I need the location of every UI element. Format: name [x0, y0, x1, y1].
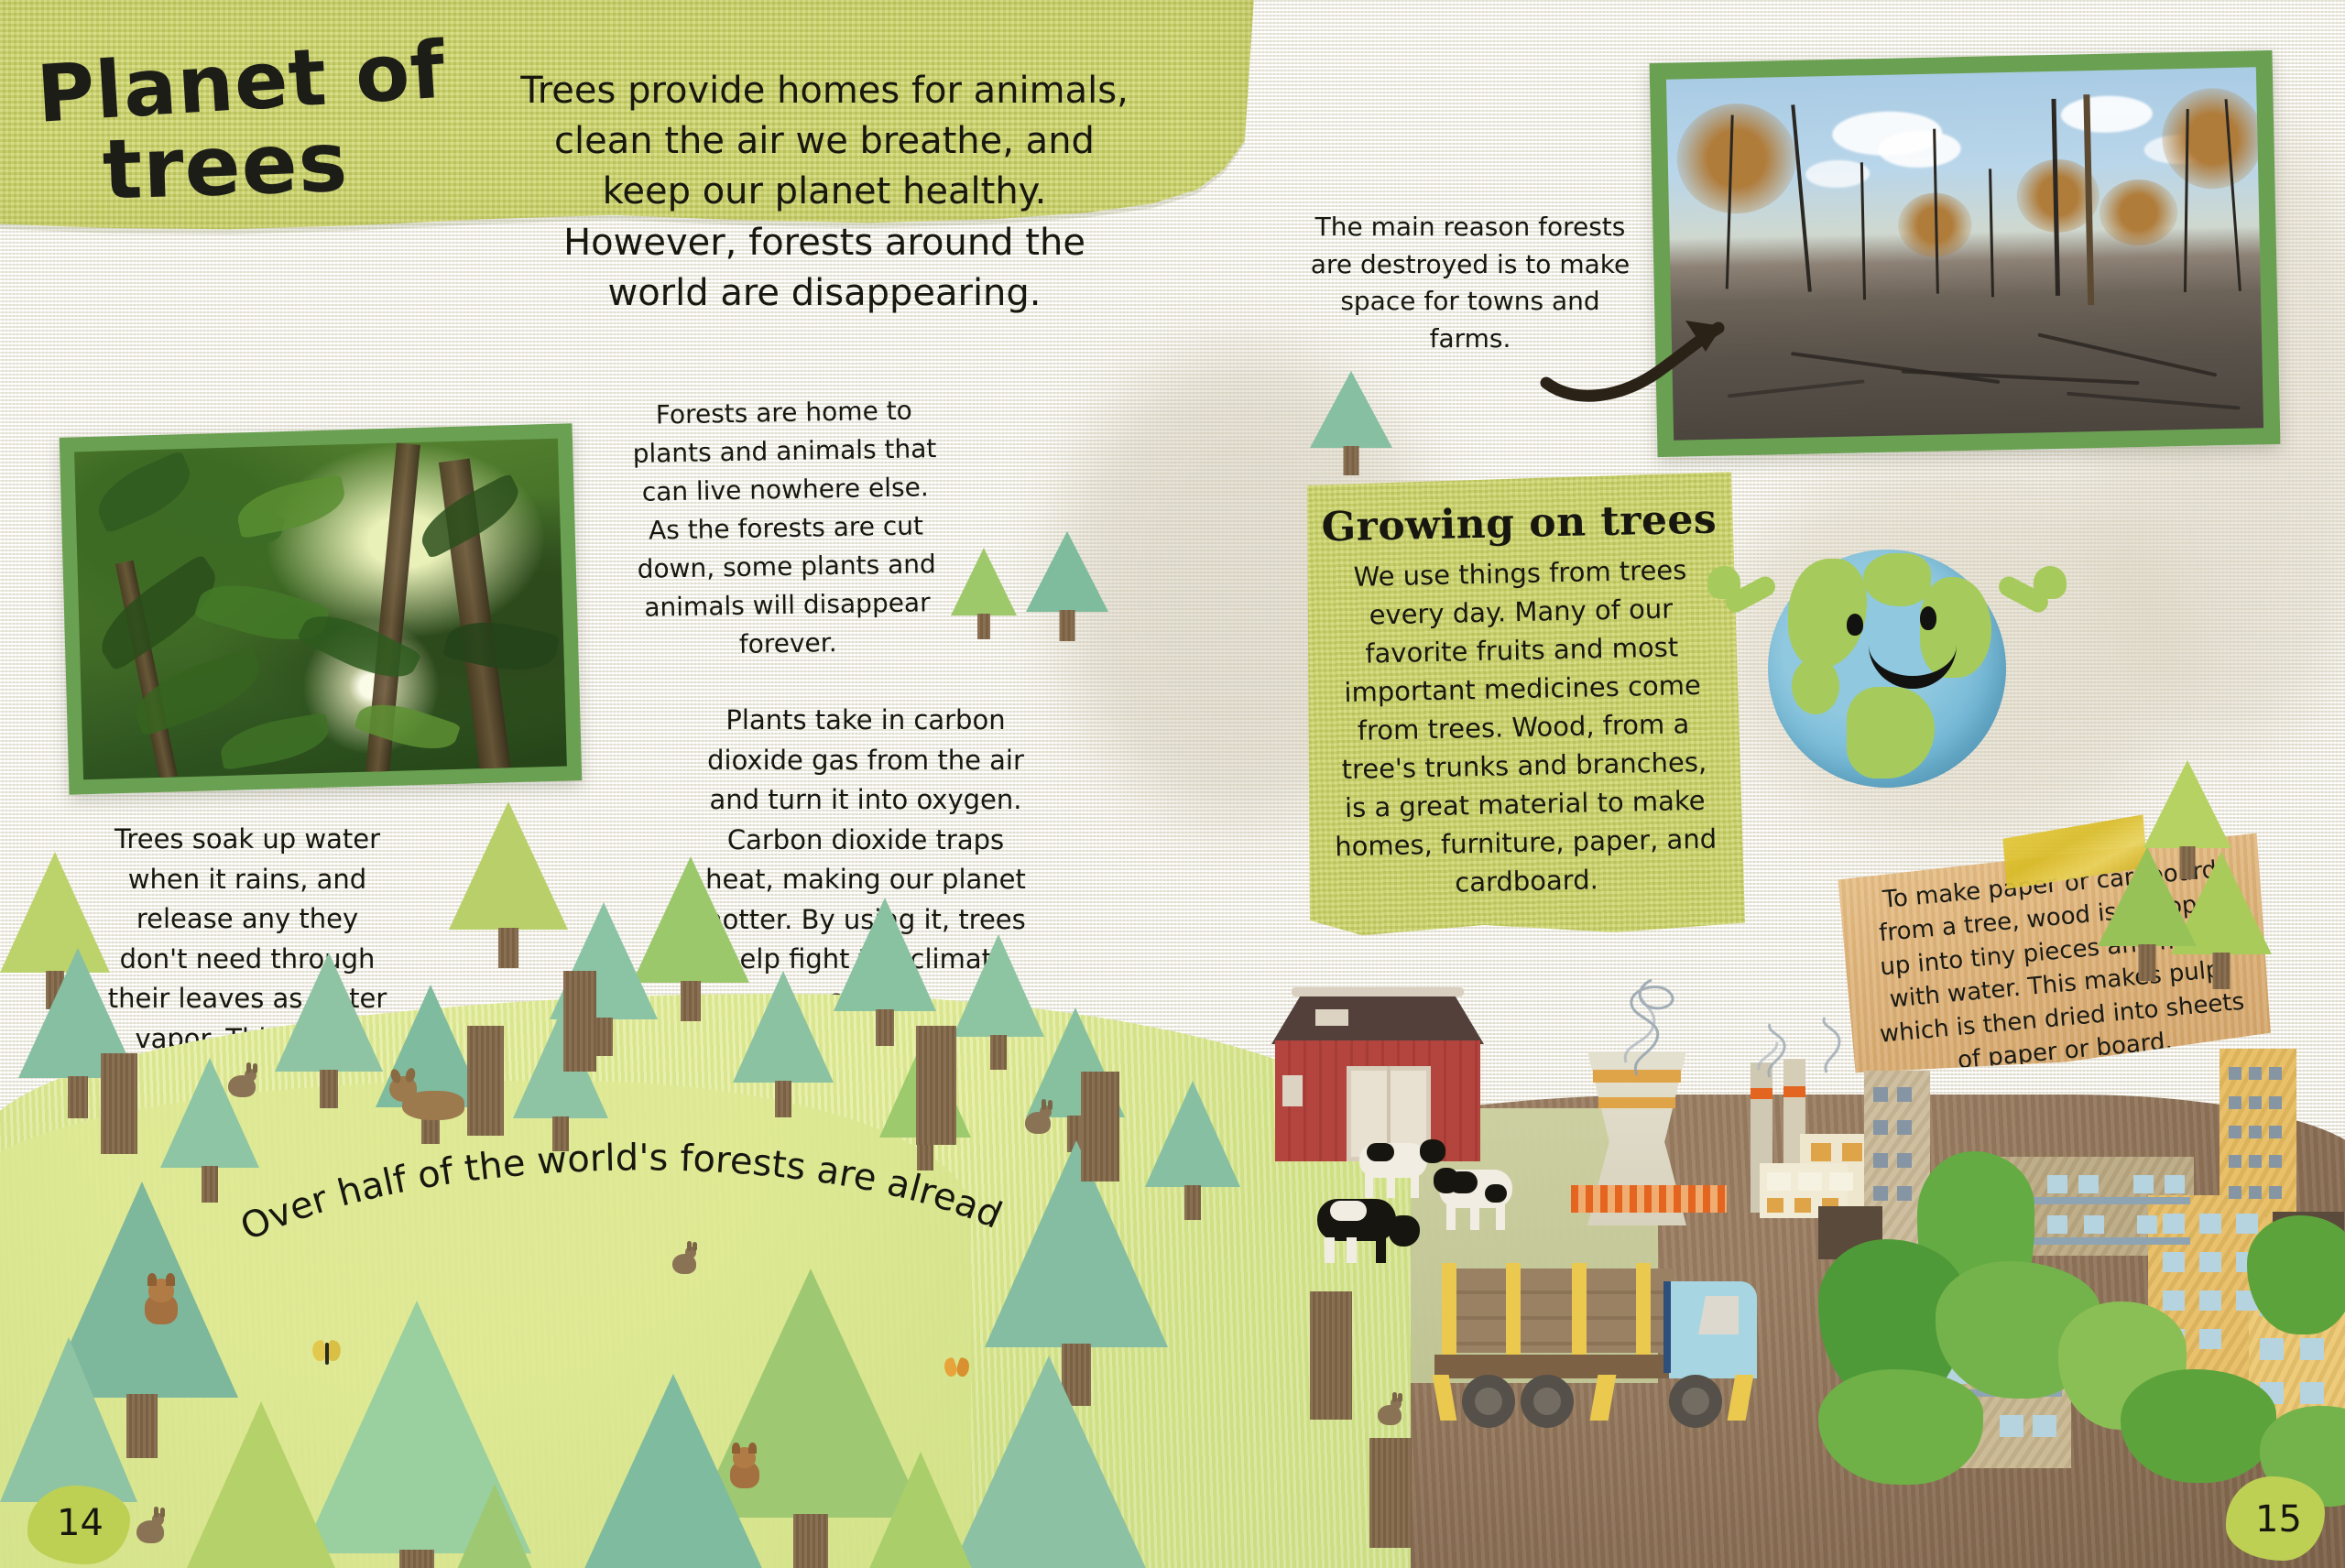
fox-cub: [137, 1273, 185, 1326]
city-window: [2300, 1382, 2324, 1404]
city-window: [1897, 1153, 1912, 1168]
smokestack-band: [1751, 1088, 1772, 1099]
city-window: [2269, 1186, 2282, 1199]
cow: [1434, 1159, 1534, 1234]
city-window: [2260, 1338, 2284, 1360]
city-window: [1873, 1087, 1888, 1102]
city-window: [2084, 1215, 2104, 1234]
barn-roof-ridge: [1292, 987, 1464, 996]
truck-stake: [1636, 1263, 1651, 1364]
smokestack-band: [1783, 1086, 1805, 1097]
city-window: [2229, 1067, 2241, 1080]
city-window-band: [2029, 1197, 2190, 1204]
truck-stake: [1442, 1263, 1456, 1364]
city-bush: [2121, 1369, 2276, 1483]
earth-right-palm: [2034, 566, 2067, 599]
factory-window: [1767, 1198, 1783, 1213]
tree-stump-post: [563, 971, 596, 1072]
city-window: [2236, 1214, 2258, 1234]
book-spread: Planet of trees Trees provide homes for …: [0, 0, 2345, 1568]
city-window: [2137, 1215, 2157, 1234]
city-window: [2269, 1067, 2282, 1080]
curved-headline: Over half of the world's forests are alr…: [229, 1140, 998, 1269]
barn-window: [1315, 1009, 1348, 1026]
city-window: [2199, 1214, 2221, 1234]
city-window: [2047, 1215, 2067, 1234]
earth-eye-left: [1847, 614, 1863, 636]
rabbit: [224, 1062, 261, 1103]
tree: [2098, 847, 2197, 981]
truck-wheel-hub: [1533, 1388, 1561, 1415]
rainforest-image: [74, 439, 567, 780]
tree: [1310, 371, 1392, 472]
globe-icon: [1768, 550, 2006, 788]
city-window: [2133, 1175, 2154, 1193]
city-window: [2229, 1126, 2241, 1138]
barn-side-window: [1282, 1075, 1303, 1106]
butterfly: [311, 1337, 343, 1370]
growing-on-trees-heading: Growing on trees: [1301, 495, 1737, 551]
city-window: [2000, 1415, 2023, 1437]
city-window: [2249, 1155, 2262, 1168]
city-window: [2199, 1290, 2221, 1311]
city-window: [1897, 1186, 1912, 1201]
truck-stake: [1506, 1263, 1521, 1364]
truck-fender: [1590, 1375, 1617, 1421]
factory-window: [1767, 1172, 1791, 1191]
truck-wheel-hub: [1475, 1388, 1502, 1415]
city-window: [1897, 1120, 1912, 1135]
tree: [829, 1452, 1012, 1568]
city-window-band: [2029, 1237, 2190, 1245]
growing-on-trees-body: We use things from trees every day. Many…: [1328, 550, 1719, 905]
city-skyline: [1818, 1049, 2345, 1479]
city-window: [1873, 1186, 1888, 1201]
tree-stump-post: [101, 1053, 137, 1154]
curved-arrow-icon: [1539, 295, 1768, 414]
rabbit: [1374, 1392, 1407, 1431]
tree-stump-post: [1369, 1438, 1412, 1548]
city-window: [2199, 1329, 2221, 1349]
city-window: [1873, 1153, 1888, 1168]
tree-stump-post: [467, 1026, 504, 1136]
city-window: [2229, 1186, 2241, 1199]
tree-stump-post: [916, 1026, 956, 1145]
tree-stump-post: [1081, 1072, 1119, 1181]
city-window: [2249, 1186, 2262, 1199]
city-window: [2269, 1155, 2282, 1168]
rabbit: [133, 1507, 169, 1549]
city-window: [2249, 1126, 2262, 1138]
city-window: [2165, 1175, 2185, 1193]
truck-wheel-hub: [1682, 1388, 1709, 1415]
city-bush: [1818, 1369, 1983, 1485]
truck-cab-post: [1663, 1281, 1671, 1373]
tree: [165, 1401, 357, 1568]
tree: [1026, 531, 1108, 641]
earth-character: [1768, 550, 2006, 788]
truck-stake: [1572, 1263, 1587, 1364]
city-window: [2269, 1096, 2282, 1109]
truck-fender: [1728, 1375, 1754, 1421]
earth-eye-right: [1920, 606, 1936, 630]
fox-cub: [724, 1443, 766, 1490]
page-number-left: 14: [57, 1502, 104, 1544]
city-window: [2269, 1126, 2282, 1138]
city-window: [2078, 1175, 2099, 1193]
city-window: [1897, 1087, 1912, 1102]
rainforest-photo: [60, 423, 583, 794]
logging-truck: [1429, 1259, 1786, 1438]
city-window: [1873, 1120, 1888, 1135]
city-window: [2229, 1155, 2241, 1168]
tree-stump-post: [1310, 1291, 1352, 1420]
growing-on-trees-panel: Growing on trees We use things from tree…: [1301, 472, 1745, 939]
city-window: [2229, 1096, 2241, 1109]
intro-paragraph: Trees provide homes for animals, clean t…: [513, 66, 1136, 319]
fawn: [389, 1067, 472, 1124]
cooling-tower-band: [1598, 1097, 1675, 1108]
butterfly: [943, 1356, 971, 1385]
truck-fender: [1433, 1375, 1457, 1421]
tree: [834, 898, 936, 1044]
tree: [403, 1484, 586, 1568]
rainforest-caption: Forests are home to plants and animals t…: [627, 391, 943, 666]
page-number-right: 15: [2255, 1498, 2302, 1541]
factory-base: [1571, 1185, 1727, 1213]
tree: [951, 548, 1017, 639]
city-window: [2163, 1214, 2185, 1234]
city-window: [2033, 1415, 2056, 1437]
page-title: Planet of trees: [37, 44, 513, 202]
rabbit: [1021, 1099, 1056, 1139]
earth-left-palm: [1707, 566, 1740, 599]
city-window: [2163, 1252, 2185, 1272]
city-window: [2249, 1067, 2262, 1080]
page-title-line2: trees: [102, 117, 515, 210]
city-window: [2249, 1096, 2262, 1109]
factory-window: [1794, 1198, 1811, 1213]
city-window: [2199, 1252, 2221, 1272]
earth-smile: [1869, 628, 1957, 689]
city-window: [2047, 1175, 2067, 1193]
city-window: [2300, 1338, 2324, 1360]
tree: [275, 953, 383, 1106]
city-window: [2163, 1290, 2185, 1311]
smoke-scribble-icon: [1580, 971, 1708, 1081]
tree: [733, 971, 834, 1116]
